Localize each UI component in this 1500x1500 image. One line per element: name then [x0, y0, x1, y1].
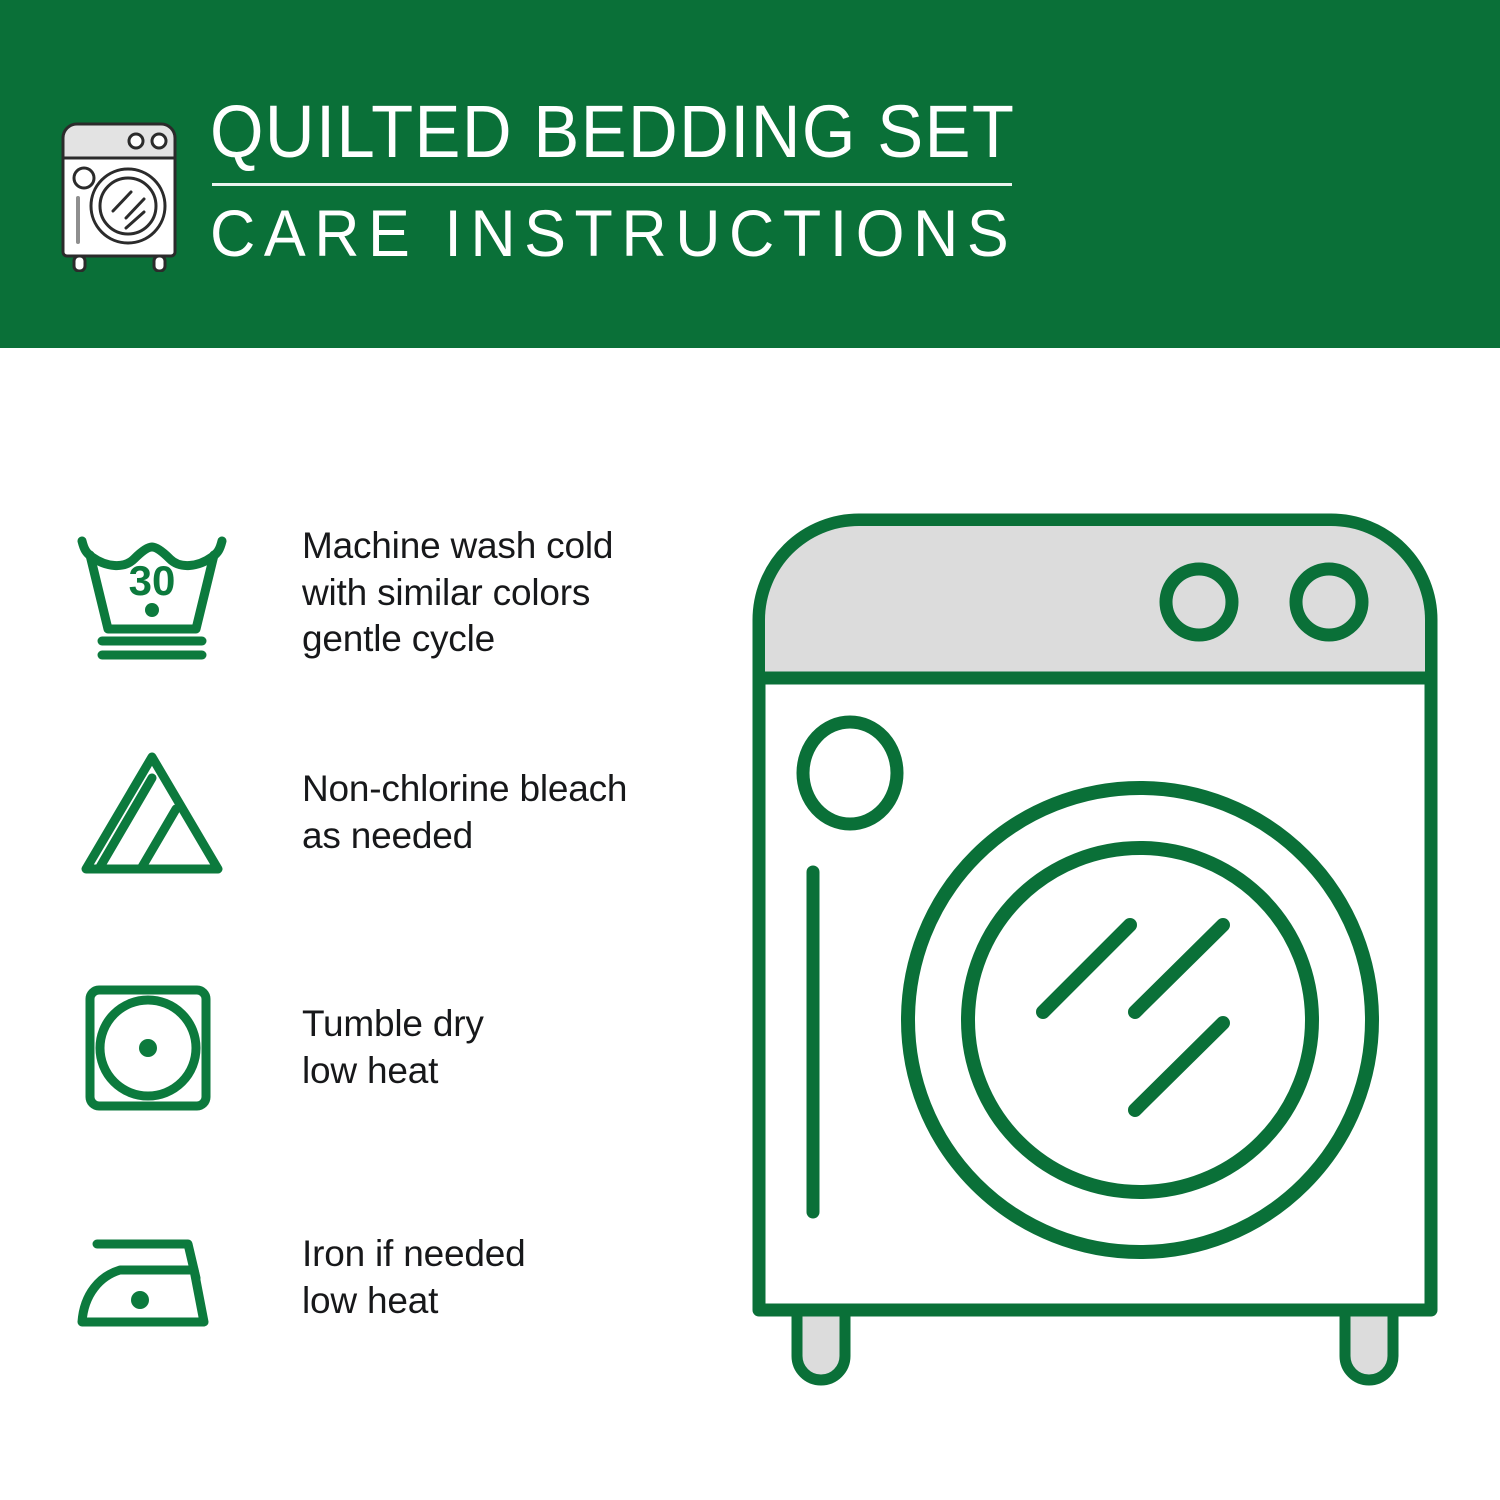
- care-label: Non-chlorine bleach as needed: [302, 766, 627, 859]
- care-row: Tumble dry low heat: [72, 973, 712, 1123]
- title-divider: [212, 183, 1012, 186]
- machine-indicator-light: [803, 722, 897, 824]
- care-row: Non-chlorine bleach as needed: [72, 738, 712, 888]
- page-title: QUILTED BEDDING SET: [210, 96, 1015, 167]
- machine-knob: [1296, 569, 1362, 635]
- care-label: Tumble dry low heat: [302, 1001, 484, 1094]
- machine-door-inner: [968, 848, 1312, 1192]
- tumble-dry-low-icon: [72, 973, 240, 1123]
- iron-low-heat-icon: [72, 1203, 240, 1353]
- header-text-block: QUILTED BEDDING SET CARE INSTRUCTIONS: [210, 96, 1076, 266]
- care-row: Iron if needed low heat: [72, 1203, 712, 1353]
- page-subtitle: CARE INSTRUCTIONS: [210, 200, 1033, 266]
- non-chlorine-bleach-triangle-icon: [72, 738, 240, 888]
- front-load-washing-machine-illustration: [745, 500, 1445, 1430]
- wash-tub-30-gentle-icon: 30: [72, 518, 240, 668]
- washing-machine-icon: [56, 106, 188, 272]
- care-label: Iron if needed low heat: [302, 1231, 525, 1324]
- wash-temperature-value: 30: [129, 557, 176, 604]
- care-instruction-list: 30 Machine wash cold with similar colors…: [0, 348, 720, 1500]
- header-banner: QUILTED BEDDING SET CARE INSTRUCTIONS: [0, 0, 1500, 348]
- care-row: 30 Machine wash cold with similar colors…: [72, 518, 712, 668]
- machine-knob: [1166, 569, 1232, 635]
- header-content: QUILTED BEDDING SET CARE INSTRUCTIONS: [56, 96, 1076, 272]
- care-label: Machine wash cold with similar colors ge…: [302, 523, 613, 663]
